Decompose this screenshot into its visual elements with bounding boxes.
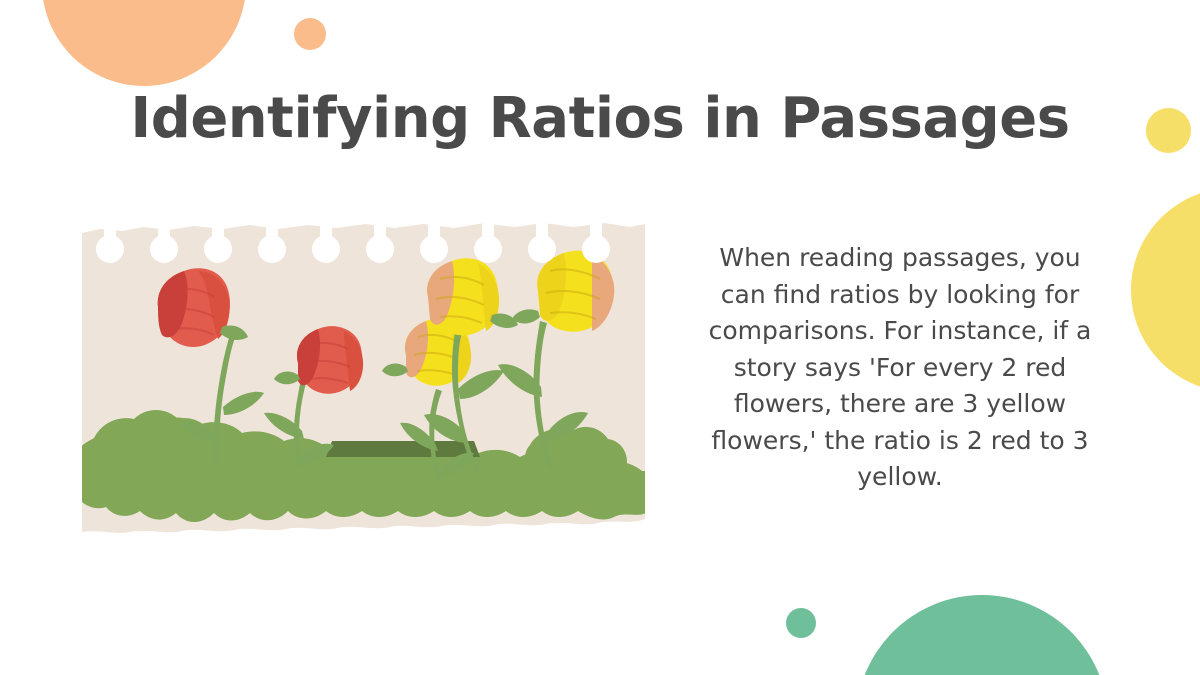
yellow-circle-large-icon [1131, 188, 1200, 392]
punch-hole [312, 219, 340, 263]
body-paragraph: When reading passages, you can find rati… [700, 240, 1100, 496]
punch-hole [258, 219, 286, 263]
orange-circle-large-icon [42, 0, 246, 86]
paper-body [82, 219, 645, 537]
orange-circle-small-icon [294, 18, 326, 50]
notebook-paper-illustration-icon [82, 219, 645, 537]
page-title: Identifying Ratios in Passages [0, 88, 1200, 151]
flower-illustration-panel [82, 219, 645, 537]
punch-hole [150, 219, 178, 263]
slide-canvas: Identifying Ratios in Passages When read… [0, 0, 1200, 675]
punch-hole [204, 219, 232, 263]
green-circle-large-icon [856, 595, 1108, 675]
punch-hole [96, 219, 124, 263]
green-circle-small-icon [786, 608, 816, 638]
